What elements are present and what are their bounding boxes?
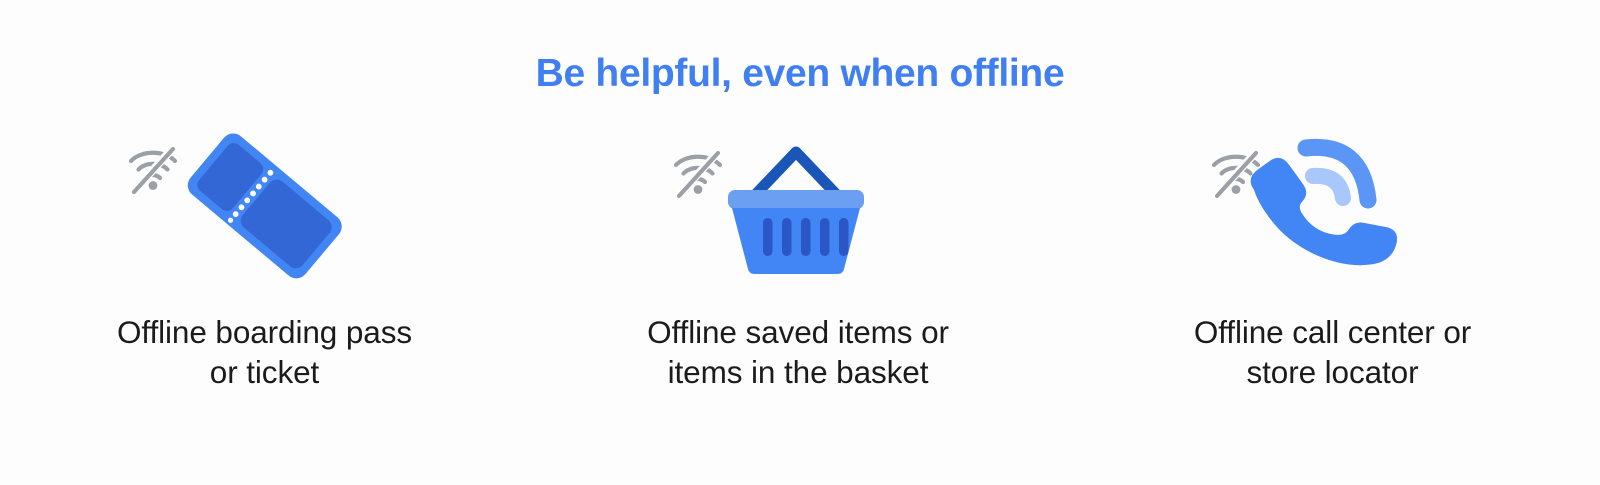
phone-illustration (1184, 130, 1484, 300)
feature-column-offline-boarding-pass: Offline boarding pass or ticket (0, 130, 533, 393)
page-title: Be helpful, even when offline (0, 52, 1600, 96)
ticket-icon (182, 130, 346, 283)
offline-capabilities-slide: Be helpful, even when offline (0, 0, 1600, 485)
ticket-illustration (117, 130, 417, 300)
feature-columns: Offline boarding pass or ticket (0, 130, 1600, 393)
feature-caption: Offline boarding pass or ticket (117, 312, 412, 393)
wifi-off-icon (131, 148, 175, 192)
feature-column-offline-call-center: Offline call center or store locator (1067, 130, 1600, 393)
feature-caption: Offline saved items or items in the bask… (647, 312, 949, 393)
feature-caption: Offline call center or store locator (1194, 312, 1471, 393)
feature-column-offline-saved-items: Offline saved items or items in the bask… (534, 130, 1067, 393)
basket-illustration (650, 130, 950, 300)
wifi-off-icon (676, 152, 720, 196)
shopping-basket-icon (728, 152, 864, 274)
wifi-off-icon (1214, 152, 1258, 196)
phone-call-icon (1242, 130, 1404, 300)
